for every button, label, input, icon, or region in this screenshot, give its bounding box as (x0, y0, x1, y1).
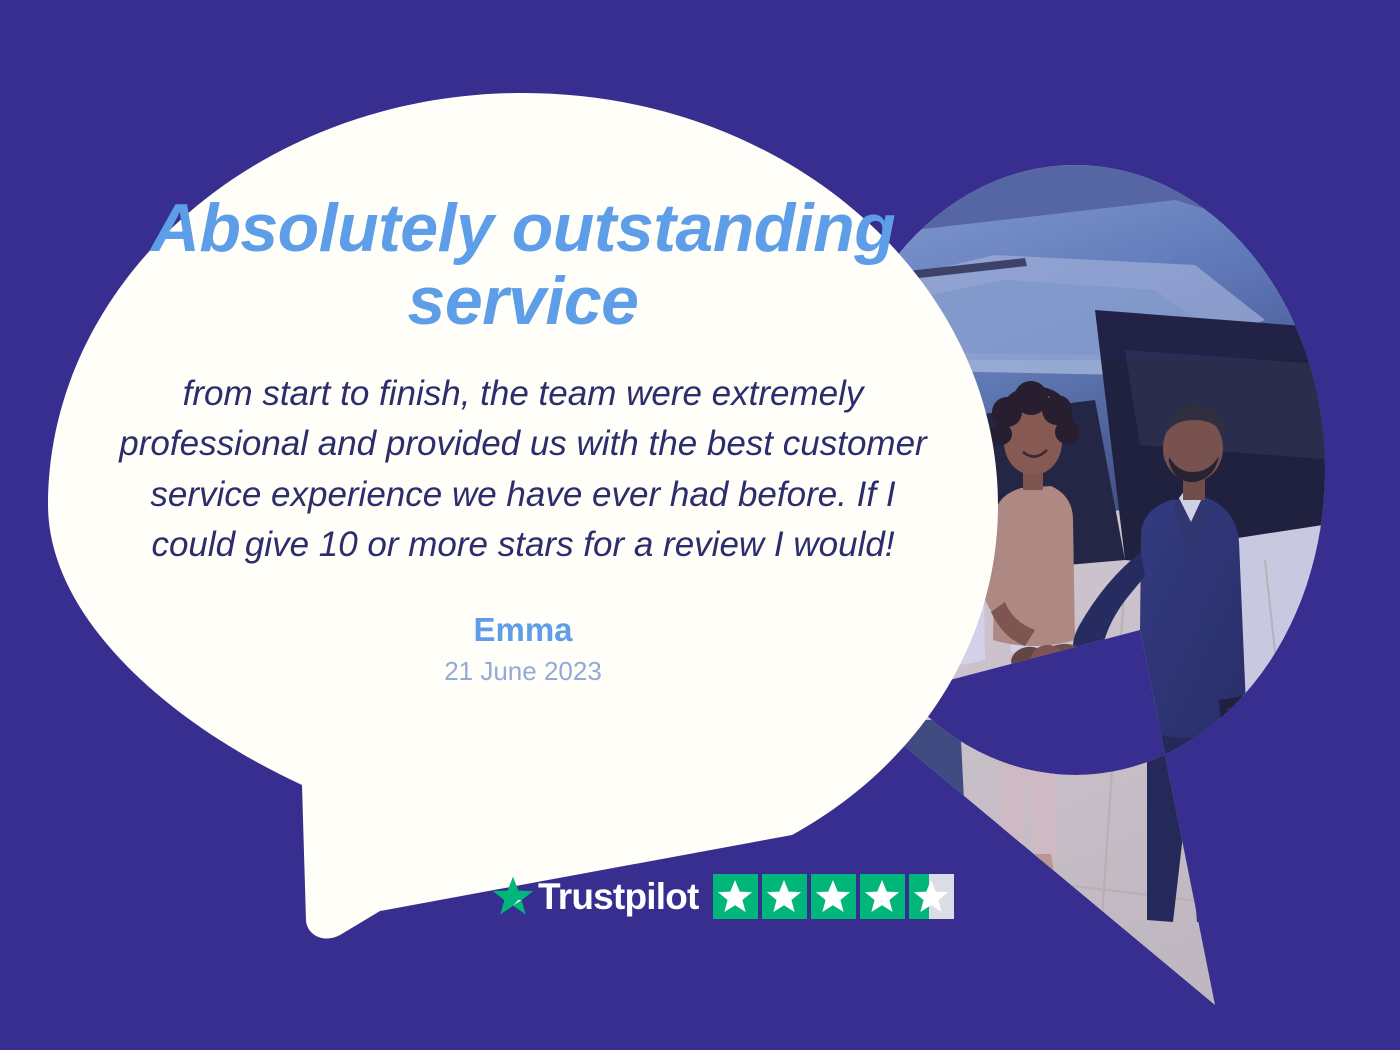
review-date: 21 June 2023 (63, 657, 983, 686)
star-tile-2[interactable] (762, 874, 807, 919)
quote-content: Absolutely outstanding service from star… (63, 180, 983, 685)
star-tile-4[interactable] (860, 874, 905, 919)
review-attribution: Emma 21 June 2023 (63, 612, 983, 685)
star-tile-5-half[interactable] (909, 874, 954, 919)
trustpilot-star-icon (492, 875, 534, 917)
trustpilot-wordmark: Trustpilot (538, 878, 699, 915)
star-tile-3[interactable] (811, 874, 856, 919)
trustpilot-rating-block[interactable]: Trustpilot (492, 868, 954, 924)
review-card-canvas: Absolutely outstanding service from star… (0, 0, 1400, 1050)
review-body-text: from start to finish, the team were extr… (108, 369, 938, 571)
star-tile-1[interactable] (713, 874, 758, 919)
review-headline: Absolutely outstanding service (133, 180, 913, 339)
trustpilot-logo[interactable]: Trustpilot (492, 875, 699, 917)
review-author-name: Emma (63, 612, 983, 648)
trustpilot-star-rating[interactable] (713, 874, 954, 919)
